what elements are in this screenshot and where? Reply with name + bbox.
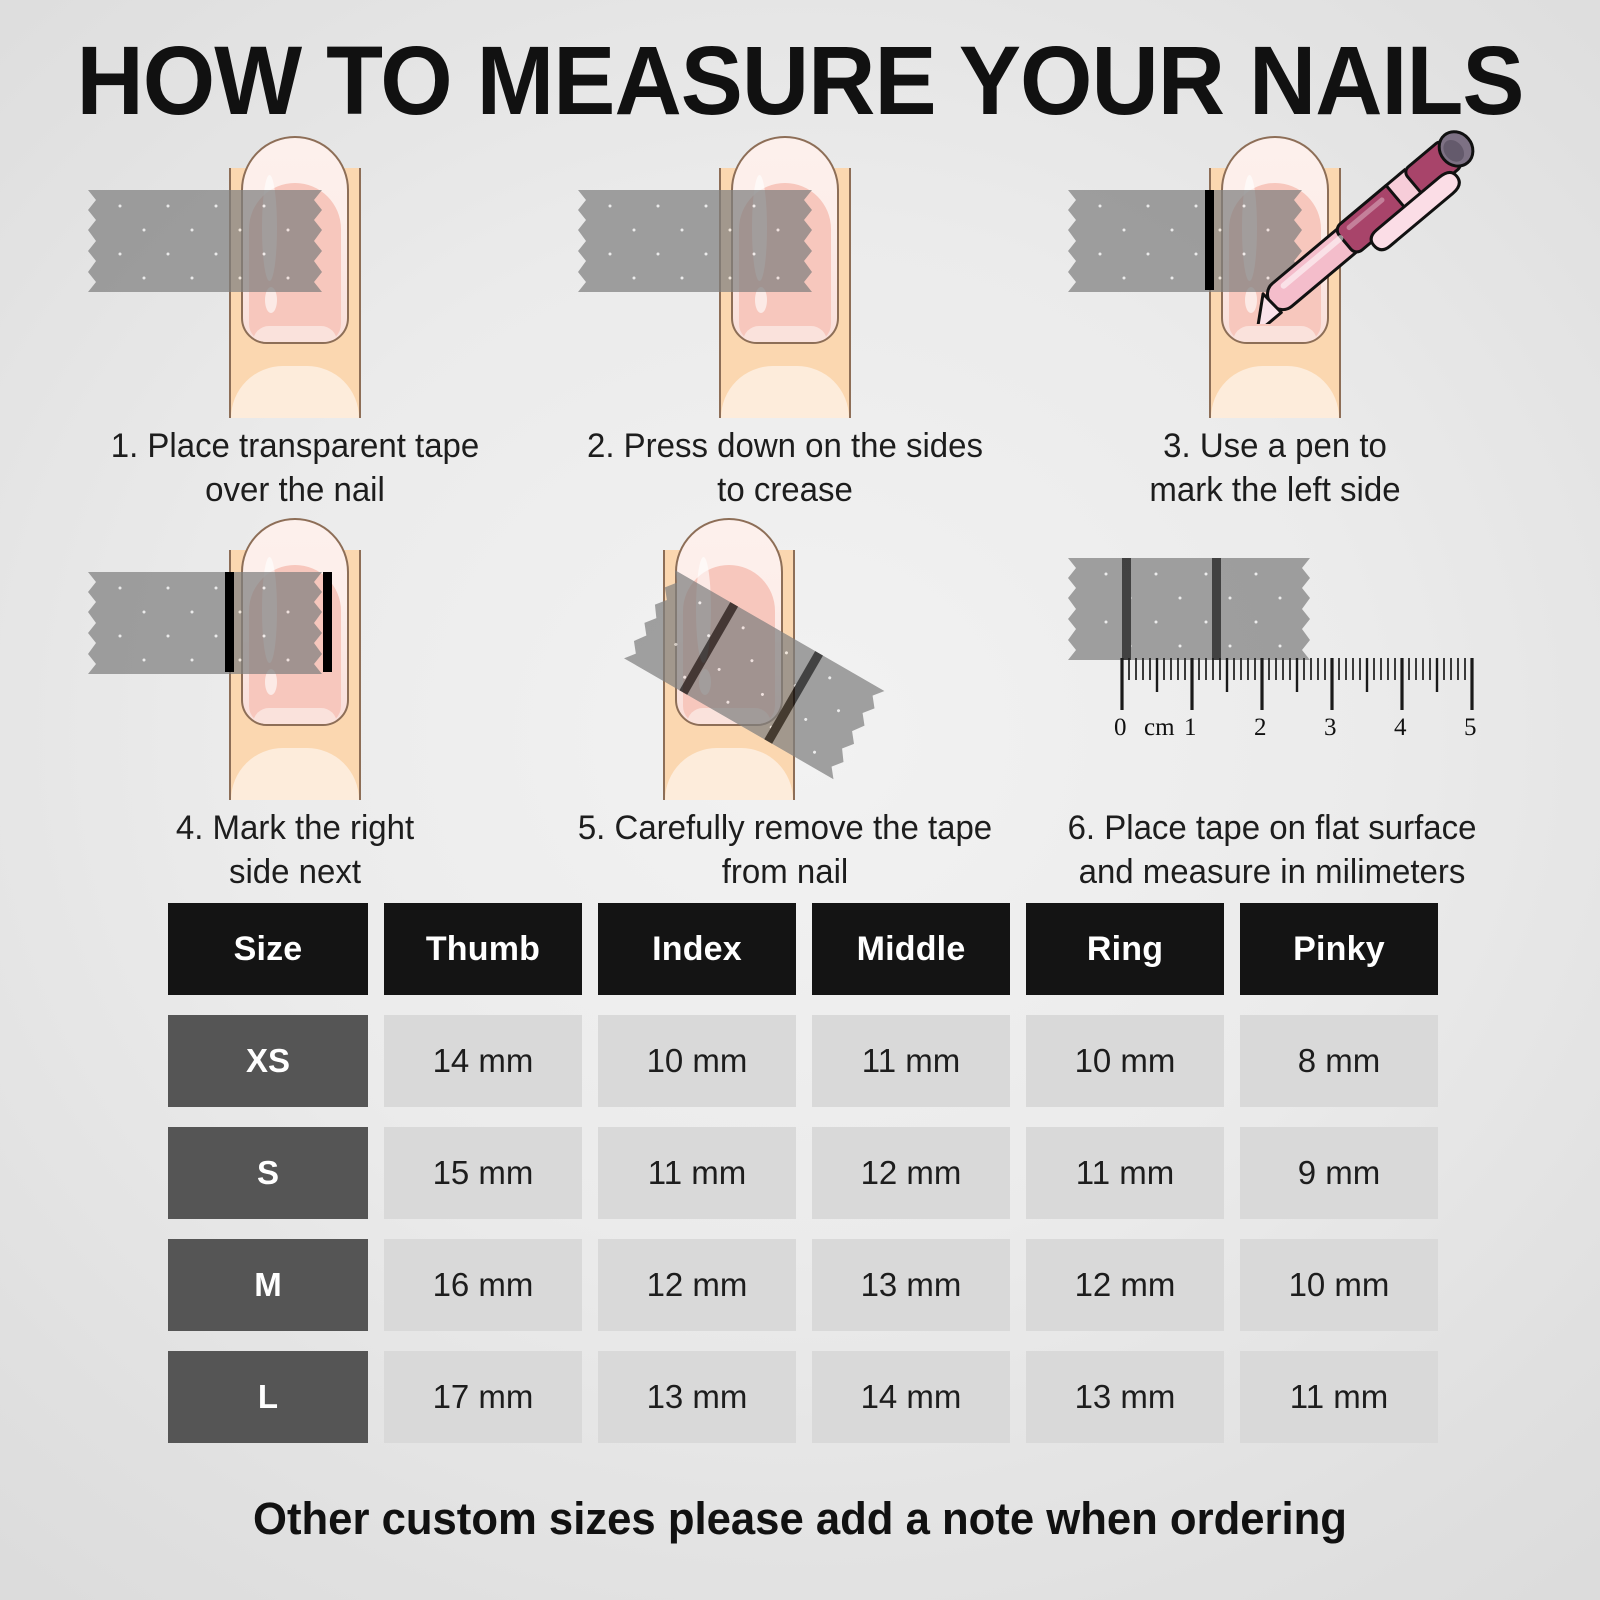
step-6: 0 cm 1 2 3 4 5 6. Place tape on flat sur…: [1040, 510, 1510, 894]
table-header-size: Size: [168, 903, 368, 995]
step-4-caption: 4. Mark the right side next: [67, 806, 523, 894]
ruler-label-cm: cm: [1144, 714, 1175, 742]
step-2: 2. Press down on the sides to crease: [550, 128, 1020, 512]
step-6-line-1: 6. Place tape on flat surface: [1030, 806, 1515, 850]
table-header-ring: Ring: [1026, 903, 1224, 995]
tape-strip: [80, 190, 330, 292]
table-cell: 12 mm: [1026, 1239, 1224, 1331]
table-cell: 12 mm: [812, 1127, 1010, 1219]
table-cell: 14 mm: [812, 1351, 1010, 1443]
step-3-line-2: mark the left side: [1047, 468, 1503, 512]
right-edge-mark: [323, 572, 332, 672]
table-row-size-label: M: [168, 1239, 368, 1331]
step-3-illustration: [1040, 128, 1510, 418]
step-4-line-2: side next: [67, 850, 523, 894]
step-5-illustration: [550, 510, 1020, 800]
table-cell: 11 mm: [1026, 1127, 1224, 1219]
step-4-illustration: [60, 510, 530, 800]
step-6-illustration: 0 cm 1 2 3 4 5: [1040, 510, 1510, 800]
step-3-line-1: 3. Use a pen to: [1047, 424, 1503, 468]
step-1-line-1: 1. Place transparent tape: [67, 424, 523, 468]
step-5: 5. Carefully remove the tape from nail: [550, 510, 1020, 894]
table-cell: 17 mm: [384, 1351, 582, 1443]
table-cell: 15 mm: [384, 1127, 582, 1219]
table-header-thumb: Thumb: [384, 903, 582, 995]
footer-note: Other custom sizes please add a note whe…: [24, 1493, 1576, 1545]
step-2-caption: 2. Press down on the sides to crease: [557, 424, 1013, 512]
table-cell: 11 mm: [598, 1127, 796, 1219]
step-2-line-1: 2. Press down on the sides: [557, 424, 1013, 468]
table-cell: 14 mm: [384, 1015, 582, 1107]
ruler-label-3: 3: [1324, 714, 1337, 742]
left-edge-mark: [225, 572, 234, 672]
ruler-label-4: 4: [1394, 714, 1407, 742]
table-cell: 13 mm: [812, 1239, 1010, 1331]
step-4: 4. Mark the right side next: [60, 510, 530, 894]
step-5-line-2: from nail: [557, 850, 1013, 894]
step-1: 1. Place transparent tape over the nail: [60, 128, 530, 512]
table-header-middle: Middle: [812, 903, 1010, 995]
table-row-size-label: L: [168, 1351, 368, 1443]
size-chart-table: Size Thumb Index Middle Ring Pinky XS 14…: [168, 903, 1436, 1443]
table-cell: 13 mm: [598, 1351, 796, 1443]
step-6-line-2: and measure in milimeters: [1030, 850, 1515, 894]
ruler-label-5: 5: [1464, 714, 1477, 742]
table-row-size-label: XS: [168, 1015, 368, 1107]
table-row-size-label: S: [168, 1127, 368, 1219]
table-header-index: Index: [598, 903, 796, 995]
step-5-line-1: 5. Carefully remove the tape: [557, 806, 1013, 850]
table-cell: 9 mm: [1240, 1127, 1438, 1219]
table-cell: 10 mm: [598, 1015, 796, 1107]
step-4-line-1: 4. Mark the right: [67, 806, 523, 850]
tape-strip-flat: [1060, 558, 1318, 660]
table-cell: 8 mm: [1240, 1015, 1438, 1107]
step-1-caption: 1. Place transparent tape over the nail: [67, 424, 523, 512]
infographic-page: HOW TO MEASURE YOUR NAILS: [0, 0, 1600, 1600]
page-title: HOW TO MEASURE YOUR NAILS: [32, 30, 1568, 132]
table-cell: 13 mm: [1026, 1351, 1224, 1443]
tape-strip: [80, 572, 330, 674]
step-5-caption: 5. Carefully remove the tape from nail: [557, 806, 1013, 894]
ruler-label-2: 2: [1254, 714, 1267, 742]
table-cell: 12 mm: [598, 1239, 796, 1331]
table-header-pinky: Pinky: [1240, 903, 1438, 995]
step-3: 3. Use a pen to mark the left side: [1040, 128, 1510, 512]
ruler-label-1: 1: [1184, 714, 1197, 742]
step-6-caption: 6. Place tape on flat surface and measur…: [1030, 806, 1515, 894]
step-1-illustration: [60, 128, 530, 418]
table-cell: 10 mm: [1026, 1015, 1224, 1107]
table-cell: 16 mm: [384, 1239, 582, 1331]
table-cell: 11 mm: [812, 1015, 1010, 1107]
step-3-caption: 3. Use a pen to mark the left side: [1047, 424, 1503, 512]
table-cell: 11 mm: [1240, 1351, 1438, 1443]
step-1-line-2: over the nail: [67, 468, 523, 512]
table-cell: 10 mm: [1240, 1239, 1438, 1331]
tape-strip: [570, 190, 820, 292]
step-2-illustration: [550, 128, 1020, 418]
left-edge-mark: [1205, 190, 1214, 290]
ruler: [1116, 658, 1516, 719]
step-2-line-2: to crease: [557, 468, 1013, 512]
pen-icon: [1220, 124, 1510, 324]
ruler-label-0: 0: [1114, 714, 1127, 742]
